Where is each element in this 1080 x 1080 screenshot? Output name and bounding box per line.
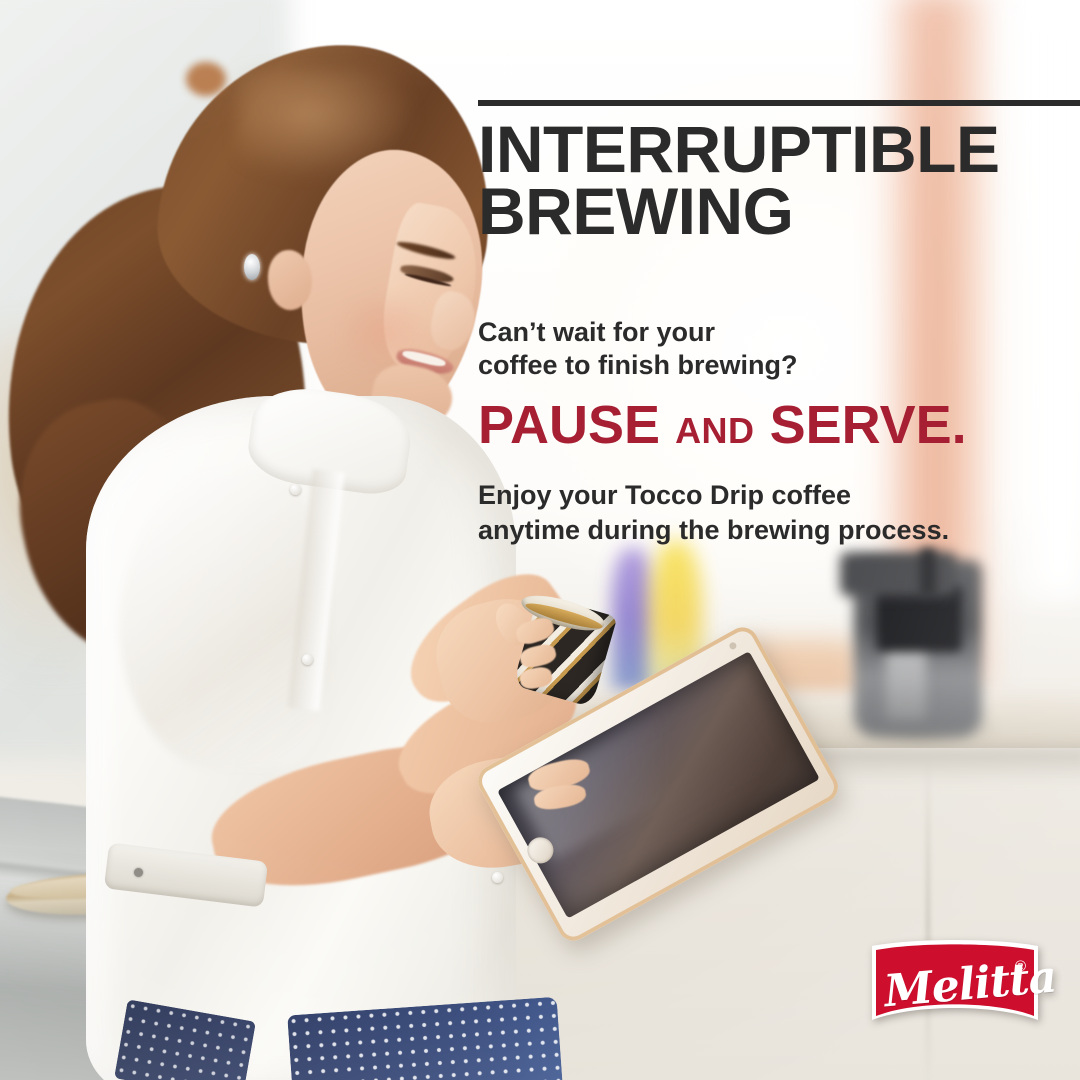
lead-question: Can’t wait for your coffee to finish bre… bbox=[478, 316, 998, 382]
header-rule bbox=[478, 100, 1080, 106]
body-copy: Enjoy your Tocco Drip coffee anytime dur… bbox=[478, 478, 1018, 547]
woman-figure bbox=[0, 0, 560, 1080]
claim-line: PAUSE AND SERVE. bbox=[478, 398, 1038, 452]
earring bbox=[244, 254, 260, 280]
melitta-logo[interactable]: Melitta ® bbox=[870, 936, 1040, 1036]
page-title: INTERRUPTIBLE BREWING bbox=[478, 118, 998, 242]
blouse-button bbox=[492, 872, 503, 883]
blouse-button bbox=[290, 484, 301, 495]
advertisement-canvas: INTERRUPTIBLE BREWING Can’t wait for you… bbox=[0, 0, 1080, 1080]
coffee-maker-top bbox=[840, 552, 956, 596]
cuff-stud bbox=[134, 868, 143, 877]
claim-part-1: PAUSE bbox=[478, 395, 660, 455]
blouse-button bbox=[302, 654, 313, 665]
claim-part-2: SERVE. bbox=[770, 395, 967, 455]
claim-conjunction: AND bbox=[675, 410, 755, 451]
coffee-maker-stem bbox=[920, 548, 936, 596]
hair-tie bbox=[186, 62, 226, 96]
